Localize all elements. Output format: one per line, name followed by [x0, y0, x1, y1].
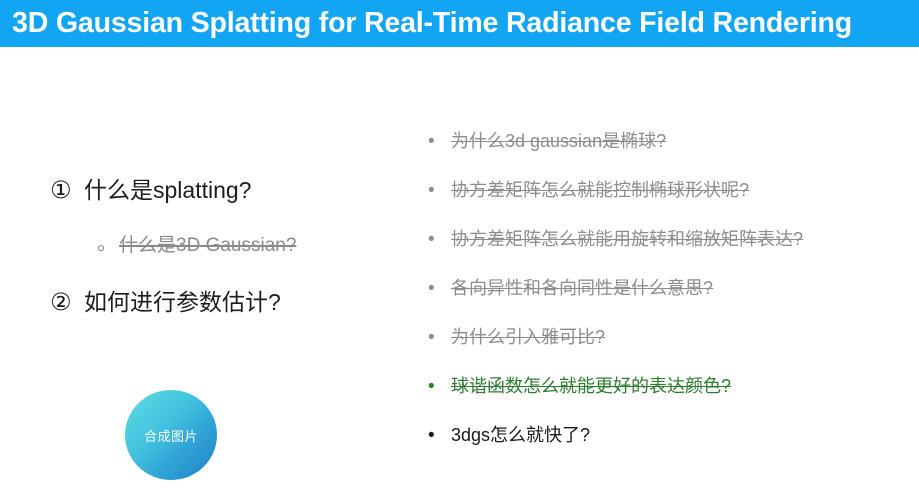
outline-item-1-sub: ○ 什么是3D Gaussian? [97, 235, 380, 262]
question-item: • 协方差矩阵怎么就能用旋转和缩放矩阵表达? [428, 228, 898, 277]
bullet-icon: • [428, 132, 451, 151]
bullet-icon: • [428, 181, 451, 200]
question-item: • 协方差矩阵怎么就能控制椭球形状呢? [428, 179, 898, 228]
question-item-pending: • 3dgs怎么就快了? [428, 424, 898, 473]
slide-content-area: ① 什么是splatting? ○ 什么是3D Gaussian? ② 如何进行… [0, 47, 919, 502]
bullet-icon: • [428, 230, 451, 249]
circled-number-icon: ② [50, 289, 84, 317]
outline-item-1: ① 什么是splatting? [50, 177, 380, 205]
image-bubble-label: 合成图片 [144, 426, 198, 445]
outline-item-label: 如何进行参数估计? [84, 289, 281, 317]
question-label: 球谐函数怎么就能更好的表达颜色? [451, 375, 731, 398]
question-item: • 各向异性和各向同性是什么意思? [428, 277, 898, 326]
question-label: 协方差矩阵怎么就能用旋转和缩放矩阵表达? [451, 228, 803, 251]
question-item-highlighted: • 球谐函数怎么就能更好的表达颜色? [428, 375, 898, 424]
outline-item-2: ② 如何进行参数估计? [50, 289, 380, 317]
page-title: 3D Gaussian Splatting for Real-Time Radi… [12, 9, 852, 38]
hollow-bullet-icon: ○ [97, 235, 119, 262]
question-list: • 为什么3d gaussian是椭球? • 协方差矩阵怎么就能控制椭球形状呢?… [428, 130, 898, 473]
synthesized-image-bubble: 合成图片 [125, 390, 217, 480]
question-label: 为什么引入雅可比? [451, 326, 605, 349]
question-item: • 为什么3d gaussian是椭球? [428, 130, 898, 179]
circled-number-icon: ① [50, 177, 84, 205]
bullet-icon: • [428, 426, 451, 445]
question-label: 为什么3d gaussian是椭球? [451, 130, 666, 153]
outline-item-label: 什么是splatting? [84, 177, 251, 205]
bullet-icon: • [428, 279, 451, 298]
question-label: 各向异性和各向同性是什么意思? [451, 277, 713, 300]
slide-title-bar: 3D Gaussian Splatting for Real-Time Radi… [0, 0, 919, 47]
outline-subitem-label: 什么是3D Gaussian? [119, 235, 296, 258]
outline-list: ① 什么是splatting? ○ 什么是3D Gaussian? ② 如何进行… [50, 177, 380, 347]
question-label: 协方差矩阵怎么就能控制椭球形状呢? [451, 179, 749, 202]
question-label: 3dgs怎么就快了? [451, 424, 590, 447]
bullet-icon: • [428, 328, 451, 347]
question-item: • 为什么引入雅可比? [428, 326, 898, 375]
bullet-icon: • [428, 377, 451, 396]
